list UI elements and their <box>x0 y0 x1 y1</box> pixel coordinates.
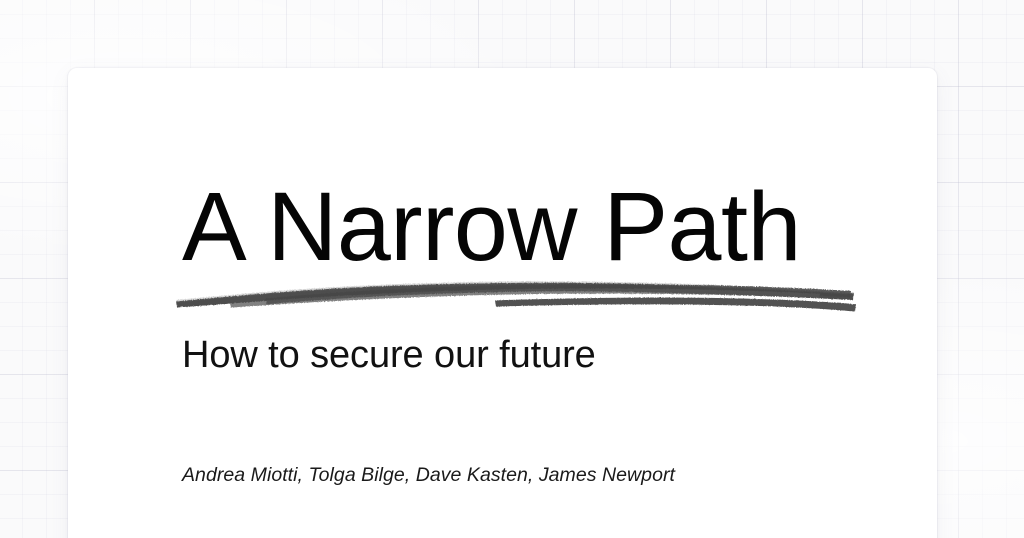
document-subtitle: How to secure our future <box>182 336 596 376</box>
document-title: A Narrow Path <box>182 178 882 275</box>
document-authors: Andrea Miotti, Tolga Bilge, Dave Kasten,… <box>182 464 675 487</box>
title-block: A Narrow Path <box>182 178 882 275</box>
document-preview-page: A Narrow Path <box>0 0 1024 538</box>
document-cover-card: A Narrow Path <box>68 68 937 538</box>
